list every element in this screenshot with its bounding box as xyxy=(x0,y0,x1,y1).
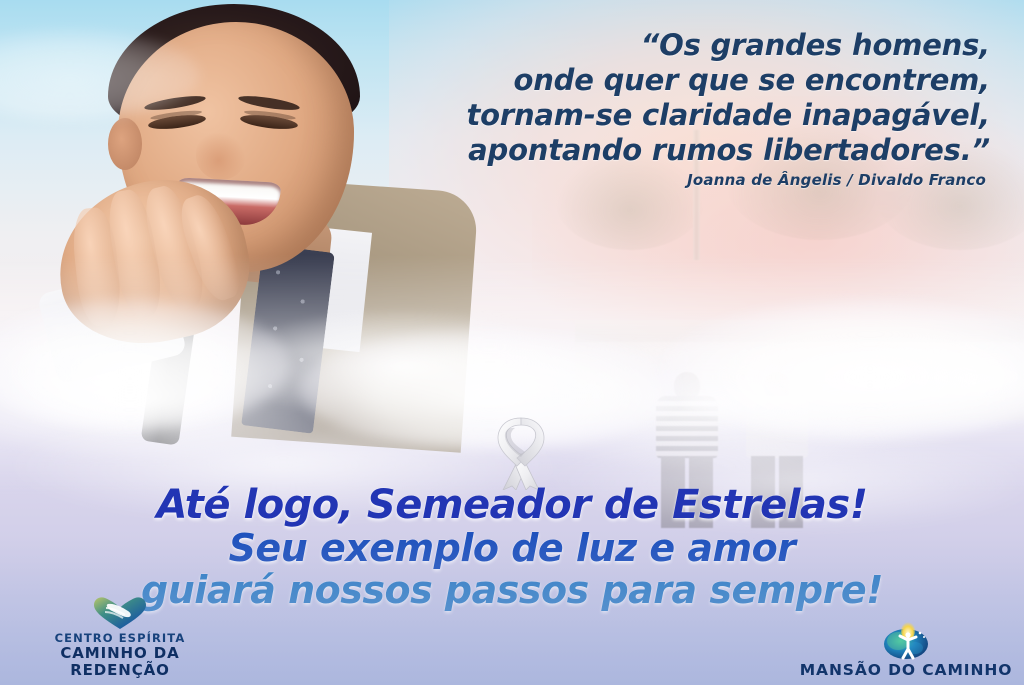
headline-line-2: Seu exemplo de luz e amor xyxy=(0,527,1024,569)
quote-line-2: onde quer que se encontrem, xyxy=(350,63,990,98)
quote-line-1: “Os grandes homens, xyxy=(350,28,990,63)
quote-line-3: tornam-se claridade inapagável, xyxy=(350,98,990,133)
headline-line-1: Até logo, Semeador de Estrelas! xyxy=(0,484,1024,527)
quote-text: “Os grandes homens, onde quer que se enc… xyxy=(350,28,990,168)
heart-hands-icon xyxy=(92,596,148,630)
portrait-ear xyxy=(108,118,142,170)
mourning-ribbon-icon xyxy=(483,408,559,490)
logo-left-line-2: CAMINHO DA REDENÇÃO xyxy=(10,645,230,679)
logo-centro-espirita: CENTRO ESPÍRITA CAMINHO DA REDENÇÃO xyxy=(10,596,230,679)
quote-line-4: apontando rumos libertadores.” xyxy=(350,133,990,168)
memorial-poster: “Os grandes homens, onde quer que se enc… xyxy=(0,0,1024,685)
globe-figure-torch-icon xyxy=(879,622,933,660)
logo-right-line-1: MANSÃO DO CAMINHO xyxy=(796,662,1016,679)
portrait-nose xyxy=(196,132,246,180)
quote-author: Joanna de Ângelis / Divaldo Franco xyxy=(346,171,986,189)
logo-mansao-do-caminho: MANSÃO DO CAMINHO xyxy=(796,622,1016,679)
headline: Até logo, Semeador de Estrelas! Seu exem… xyxy=(0,484,1024,611)
